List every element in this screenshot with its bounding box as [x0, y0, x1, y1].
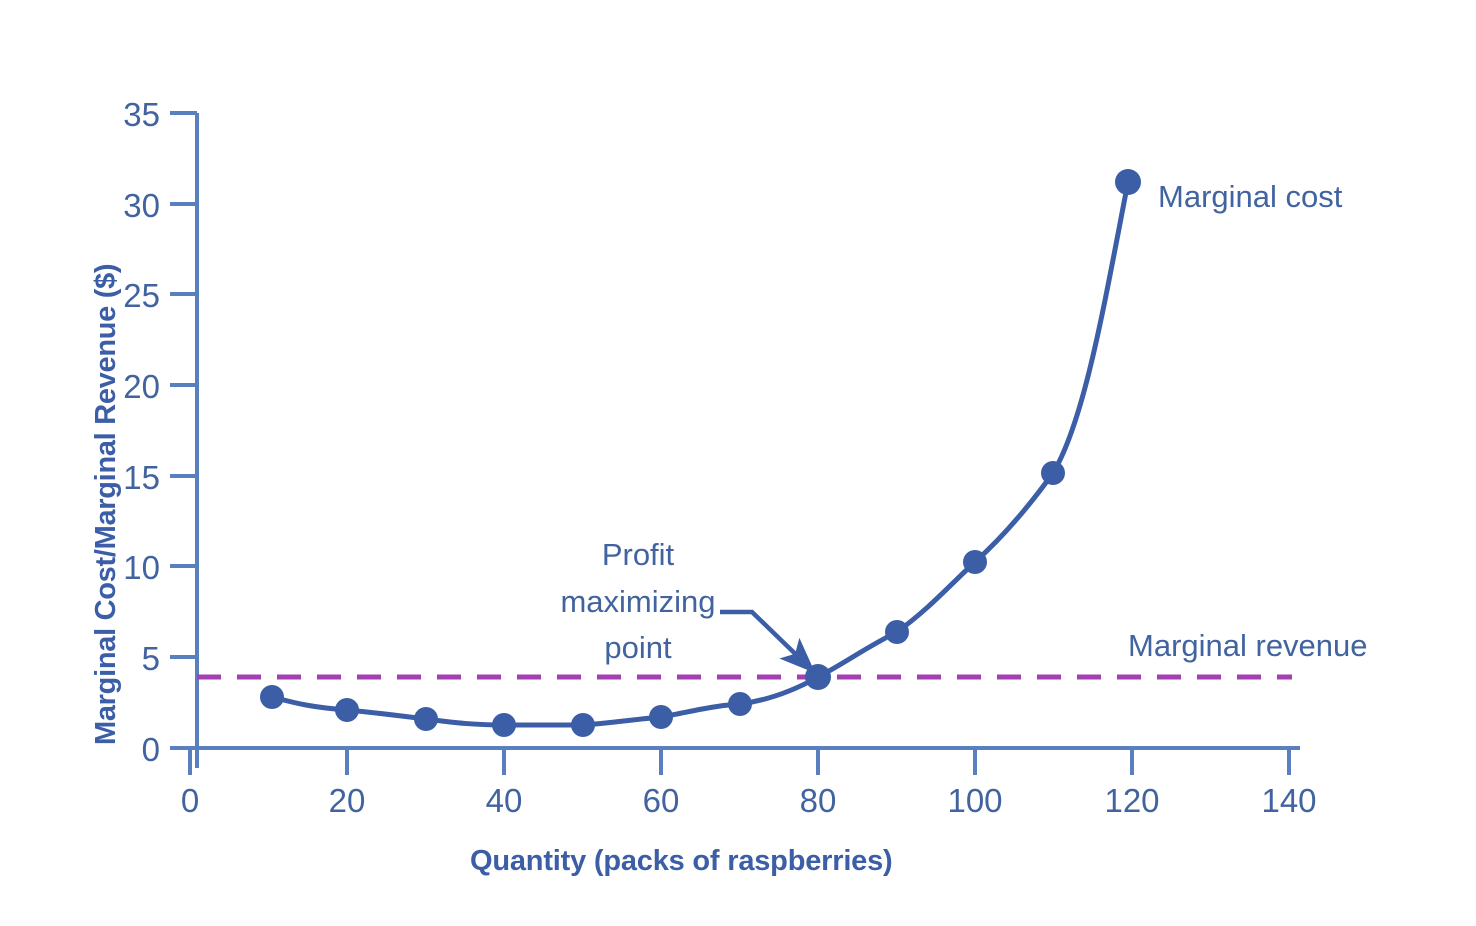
- data-point: [571, 713, 595, 737]
- x-tick-label-60: 60: [643, 782, 680, 819]
- profit-max-label-line3: point: [604, 630, 672, 665]
- data-point: [728, 692, 752, 716]
- data-point: [963, 550, 987, 574]
- chart-container: 35 30 25 20 15 10 5 0 0 20 40 60 80 100 …: [0, 0, 1476, 926]
- y-tick-label-0: 0: [142, 731, 160, 768]
- x-tick-label-20: 20: [329, 782, 366, 819]
- data-point: [335, 698, 359, 722]
- x-tick-label-100: 100: [947, 782, 1002, 819]
- x-axis-title: Quantity (packs of raspberries): [470, 845, 893, 878]
- x-axis-ticks: [190, 748, 1289, 775]
- marginal-cost-markers: [260, 169, 1141, 737]
- data-point: [492, 713, 516, 737]
- x-tick-label-120: 120: [1104, 782, 1159, 819]
- x-tick-label-0: 0: [181, 782, 199, 819]
- y-tick-label-5: 5: [142, 640, 160, 677]
- chart-svg: 35 30 25 20 15 10 5 0 0 20 40 60 80 100 …: [0, 0, 1476, 926]
- y-axis-ticks: [170, 113, 197, 748]
- x-tick-label-80: 80: [800, 782, 837, 819]
- profit-max-arrow: [720, 612, 812, 670]
- x-tick-label-140: 140: [1261, 782, 1316, 819]
- y-axis-title: Marginal Cost/Marginal Revenue ($): [90, 264, 123, 745]
- marginal-cost-label: Marginal cost: [1158, 179, 1343, 214]
- data-point: [1041, 461, 1065, 485]
- y-tick-label-35: 35: [123, 96, 160, 133]
- y-tick-label-15: 15: [123, 459, 160, 496]
- data-point: [885, 620, 909, 644]
- marginal-cost-curve: [272, 182, 1128, 725]
- marginal-revenue-label: Marginal revenue: [1128, 628, 1368, 663]
- data-point: [414, 707, 438, 731]
- data-point: [260, 685, 284, 709]
- y-tick-label-20: 20: [123, 368, 160, 405]
- y-tick-label-30: 30: [123, 187, 160, 224]
- profit-max-label-line2: maximizing: [560, 584, 715, 619]
- y-tick-label-10: 10: [123, 549, 160, 586]
- y-tick-label-25: 25: [123, 277, 160, 314]
- x-tick-label-40: 40: [486, 782, 523, 819]
- data-point: [649, 705, 673, 729]
- profit-max-label-line1: Profit: [602, 537, 675, 572]
- data-point: [1115, 169, 1141, 195]
